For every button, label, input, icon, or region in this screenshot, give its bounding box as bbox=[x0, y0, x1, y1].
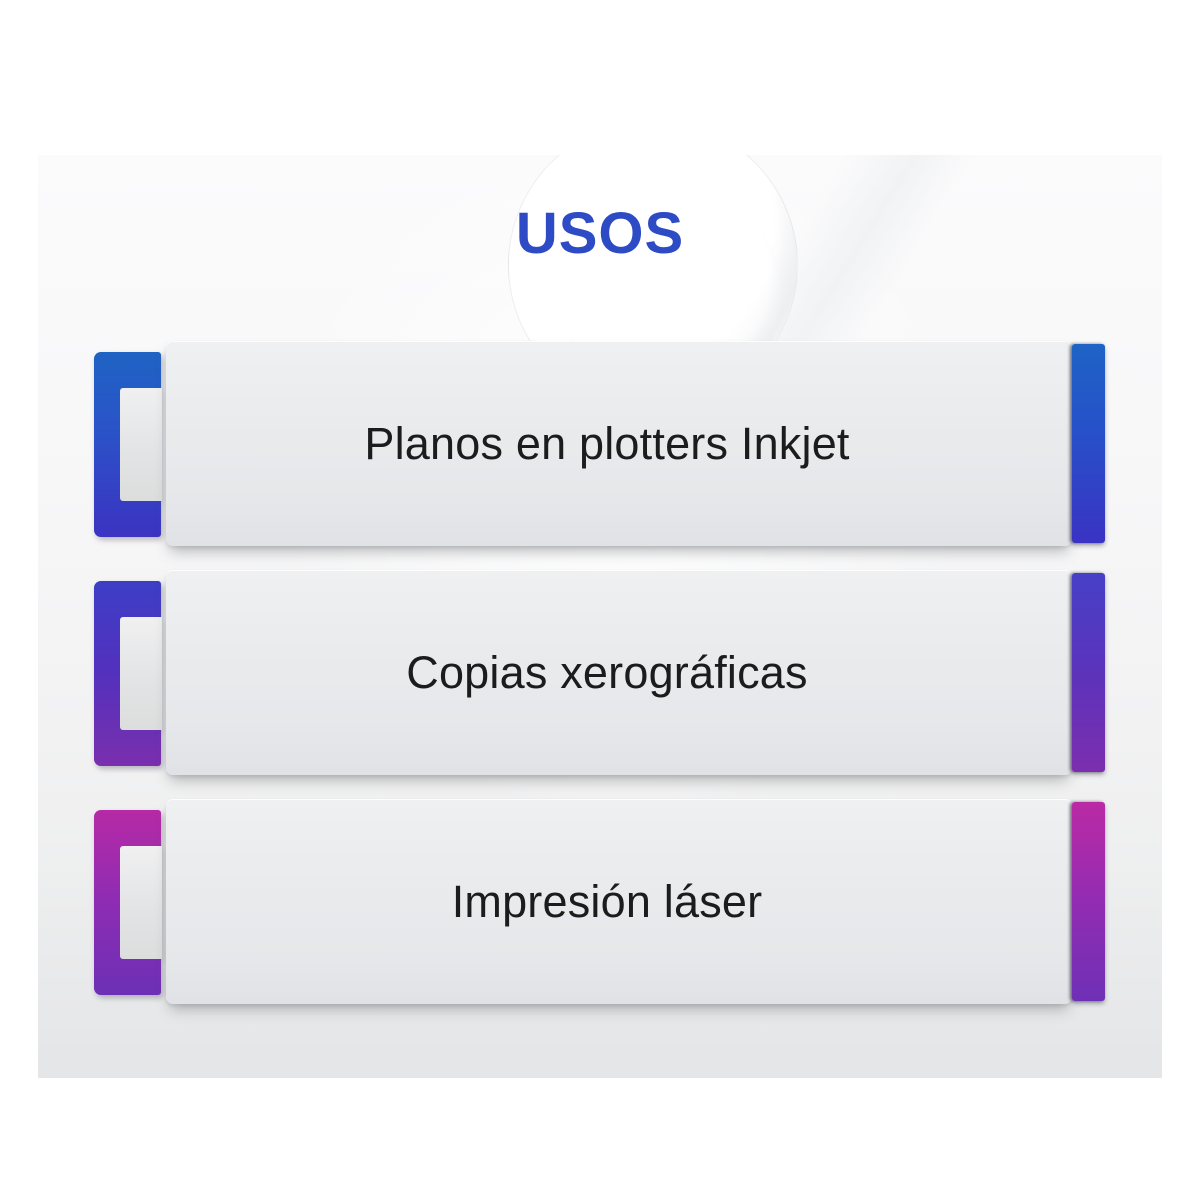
usage-card-label: Planos en plotters Inkjet bbox=[364, 421, 873, 466]
slide-title: USOS bbox=[38, 200, 1162, 267]
accent-bar bbox=[1072, 573, 1105, 772]
square-bracket-icon bbox=[94, 352, 161, 537]
usage-card[interactable]: Planos en plotters Inkjet bbox=[166, 341, 1072, 546]
square-bracket-icon bbox=[94, 581, 161, 766]
usage-card-label: Copias xerográficas bbox=[406, 650, 831, 695]
usage-card[interactable]: Copias xerográficas bbox=[166, 570, 1072, 775]
screenshot-root: USOS Planos en plotters Inkjet Copias xe… bbox=[0, 0, 1200, 1200]
list-item[interactable]: Impresión láser bbox=[38, 799, 1162, 1028]
usage-card-label: Impresión láser bbox=[452, 879, 787, 924]
slide-canvas: USOS Planos en plotters Inkjet Copias xe… bbox=[38, 155, 1162, 1078]
usage-card[interactable]: Impresión láser bbox=[166, 799, 1072, 1004]
square-bracket-icon bbox=[94, 810, 161, 995]
accent-bar bbox=[1072, 344, 1105, 543]
accent-bar bbox=[1072, 802, 1105, 1001]
list-item[interactable]: Planos en plotters Inkjet bbox=[38, 341, 1162, 570]
usage-list: Planos en plotters Inkjet Copias xerográ… bbox=[38, 341, 1162, 1028]
list-item[interactable]: Copias xerográficas bbox=[38, 570, 1162, 799]
